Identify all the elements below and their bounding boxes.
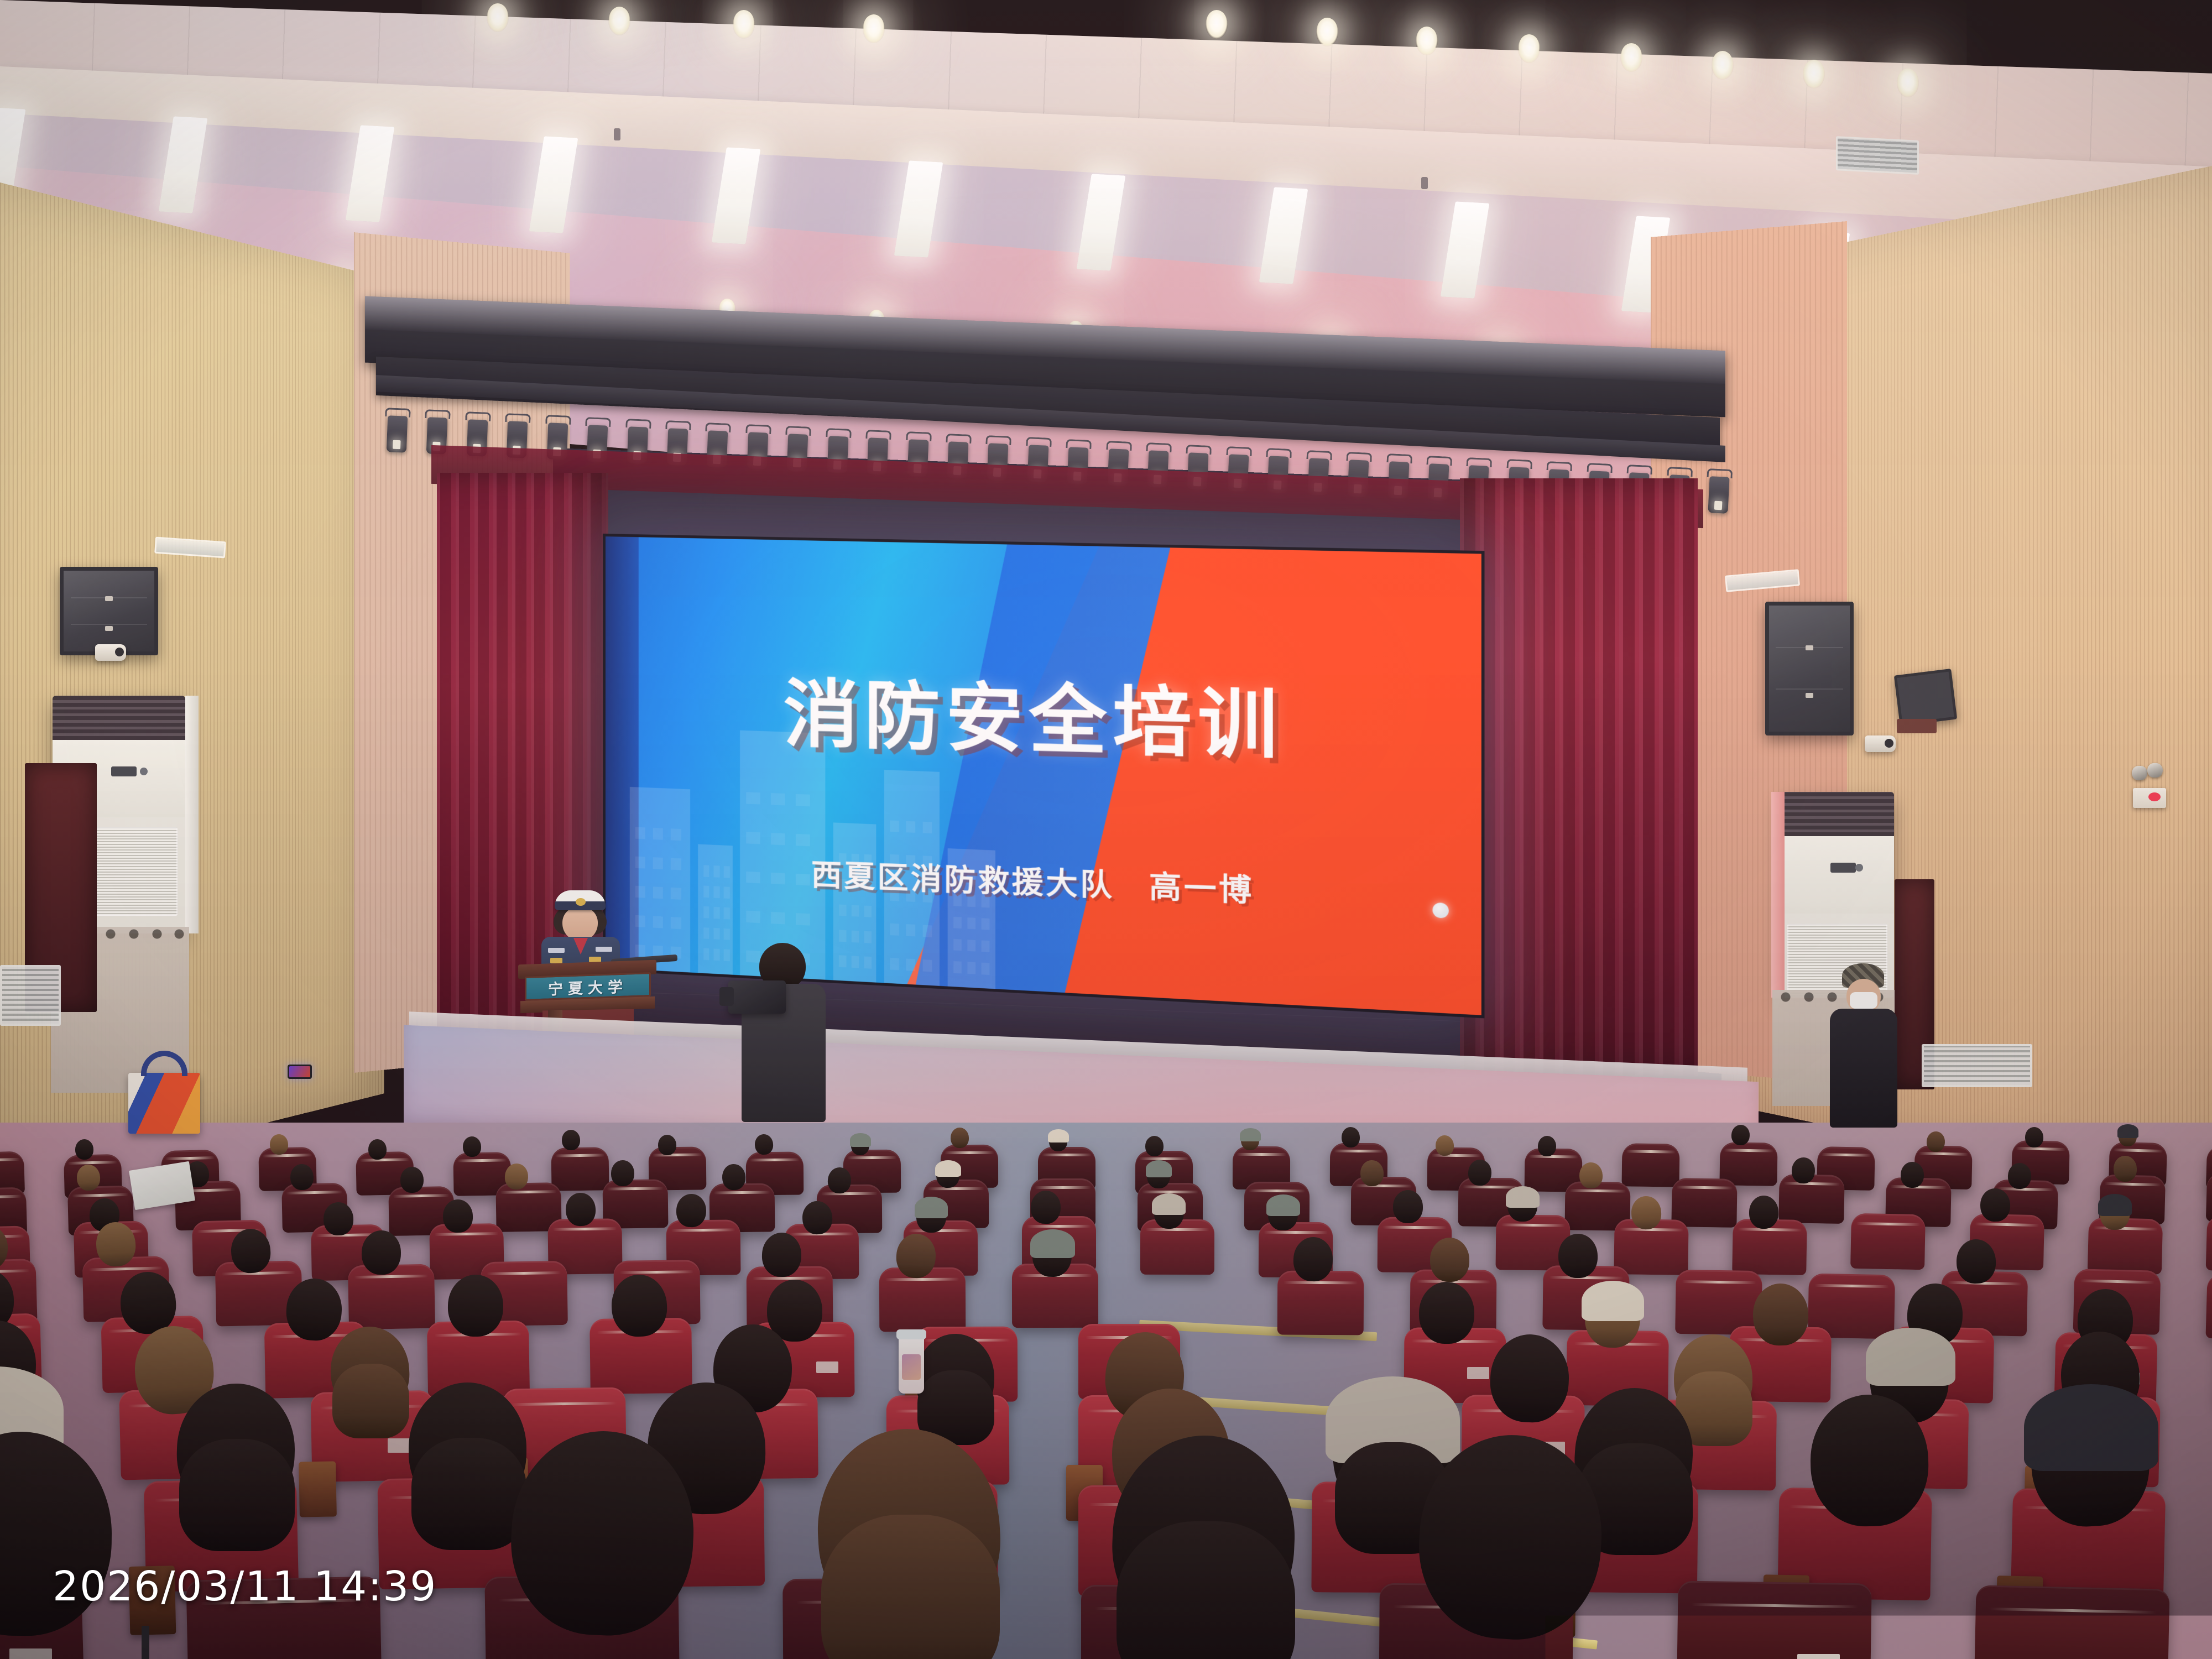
skyline-window bbox=[671, 888, 681, 900]
skyline-window bbox=[746, 832, 760, 844]
auditorium-seat[interactable] bbox=[1850, 1213, 1926, 1270]
skyline-window bbox=[982, 918, 989, 930]
security-camera bbox=[1865, 735, 1896, 752]
skyline-window bbox=[635, 827, 645, 839]
audience-member-cap bbox=[850, 1133, 871, 1147]
skyline-window bbox=[724, 949, 729, 961]
skyline-window bbox=[864, 931, 872, 943]
wall-notice-sign bbox=[2133, 788, 2166, 808]
skyline-window bbox=[724, 907, 729, 919]
left-floor-vent bbox=[0, 965, 61, 1026]
speaker-mount-bracket bbox=[1897, 719, 1937, 733]
audience-member-cap bbox=[2098, 1194, 2132, 1216]
lamp-yoke bbox=[1026, 437, 1052, 447]
skyline-window bbox=[852, 956, 859, 968]
skyline-window bbox=[864, 957, 872, 969]
lamp-yoke bbox=[1627, 465, 1653, 474]
sprinkler-head-icon bbox=[1421, 177, 1428, 189]
lamp-yoke bbox=[865, 430, 891, 440]
audience-member-head bbox=[1980, 1188, 2011, 1222]
lamp-yoke bbox=[1707, 468, 1733, 478]
security-camera bbox=[95, 644, 126, 661]
lamp-yoke bbox=[665, 420, 691, 430]
lamp-yoke bbox=[625, 419, 651, 429]
skyline-window bbox=[703, 906, 709, 918]
seat-leg bbox=[142, 1626, 149, 1659]
skyline-window bbox=[653, 857, 663, 869]
audience-member-head bbox=[1901, 1162, 1924, 1188]
auditorium-seat[interactable] bbox=[1974, 1585, 2170, 1659]
lamp-yoke bbox=[1587, 463, 1613, 473]
skyline-window bbox=[796, 834, 810, 846]
skyline-window bbox=[671, 858, 681, 870]
ceiling-air-vent bbox=[1836, 136, 1919, 175]
skyline-window bbox=[771, 912, 785, 924]
skyline-window bbox=[906, 959, 916, 971]
lamp-yoke bbox=[1066, 439, 1092, 449]
skyline-window bbox=[714, 948, 719, 960]
skyline-window bbox=[635, 945, 645, 957]
audience-member-head bbox=[75, 1139, 93, 1160]
skyline-window bbox=[906, 821, 916, 833]
audience-member-head bbox=[1393, 1190, 1423, 1223]
lamp-yoke bbox=[425, 409, 451, 419]
skyline-window bbox=[906, 924, 916, 936]
audience-member-head bbox=[1558, 1234, 1598, 1278]
audience-member-head bbox=[400, 1167, 424, 1193]
audience-member-cap bbox=[1146, 1160, 1172, 1177]
ceiling-downlight bbox=[1416, 27, 1438, 55]
attendee-coat bbox=[1830, 1009, 1897, 1128]
skyline-window bbox=[714, 928, 719, 940]
skyline-window bbox=[890, 924, 899, 936]
tote-bag bbox=[128, 1073, 200, 1134]
skyline-window bbox=[839, 904, 846, 916]
lamp-yoke bbox=[1146, 442, 1172, 452]
lamp-yoke bbox=[706, 422, 732, 432]
skyline-window bbox=[953, 916, 961, 928]
podium-plate-text: 宁夏大学 bbox=[548, 974, 628, 999]
skyline-window bbox=[839, 930, 846, 942]
audience-member-cap bbox=[1048, 1129, 1069, 1143]
audience-member-head bbox=[269, 1134, 288, 1155]
lamp-yoke bbox=[585, 417, 611, 427]
skyline-window bbox=[796, 874, 810, 886]
skyline-window bbox=[839, 955, 846, 967]
audience-member-cap bbox=[1152, 1193, 1186, 1215]
auditorium-seat[interactable] bbox=[1672, 1178, 1738, 1228]
skyline-window bbox=[922, 822, 932, 834]
audience-member-head bbox=[462, 1136, 481, 1157]
lamp-yoke bbox=[1306, 450, 1332, 460]
skyline-window bbox=[771, 873, 785, 885]
lamp-yoke bbox=[1467, 457, 1493, 467]
right-ac-left-edge bbox=[1771, 792, 1785, 998]
audience-member-cap bbox=[1266, 1194, 1300, 1217]
audience-member-cap bbox=[2024, 1384, 2158, 1471]
lamp-yoke bbox=[745, 424, 771, 434]
lamp-yoke bbox=[986, 435, 1012, 445]
skyline-window bbox=[890, 958, 899, 970]
skyline-window bbox=[653, 886, 663, 899]
skyline-window bbox=[653, 828, 663, 840]
audience-member-head bbox=[676, 1193, 707, 1228]
audience-member-head bbox=[611, 1160, 634, 1186]
audience-member-long-hair bbox=[411, 1438, 526, 1550]
skyline-window bbox=[922, 959, 932, 972]
emergency-exit-lamp bbox=[2132, 766, 2165, 785]
skyline-window bbox=[724, 928, 729, 940]
right-floor-vent bbox=[1922, 1044, 2032, 1087]
seat-number-tag bbox=[9, 1648, 52, 1659]
audience-member-head bbox=[1360, 1160, 1384, 1187]
auditorium-seat[interactable] bbox=[1675, 1270, 1762, 1335]
auditorium-seat[interactable] bbox=[1622, 1143, 1680, 1187]
skyline-window bbox=[967, 962, 975, 974]
skyline-window bbox=[746, 911, 760, 923]
stage-spotlight bbox=[387, 415, 408, 452]
auditorium-seat[interactable] bbox=[1676, 1580, 1871, 1659]
skyline-window bbox=[635, 886, 645, 898]
videographer bbox=[733, 943, 832, 1131]
lamp-yoke bbox=[505, 413, 531, 423]
lamp-yoke bbox=[946, 434, 972, 444]
skyline-window bbox=[953, 961, 961, 973]
audience-member-cap bbox=[1030, 1229, 1075, 1259]
skyline-window bbox=[671, 828, 681, 841]
lamp-yoke bbox=[1226, 446, 1252, 456]
skyline-window bbox=[703, 927, 709, 939]
left-wall-speaker bbox=[60, 567, 158, 655]
audience-member-long-hair bbox=[821, 1515, 1000, 1659]
skyline-window bbox=[724, 886, 729, 898]
lamp-yoke bbox=[1547, 461, 1573, 471]
audience-member-head bbox=[1030, 1190, 1061, 1224]
lamp-yoke bbox=[906, 431, 932, 441]
audience-member-head bbox=[2008, 1162, 2032, 1189]
seat-number-tag bbox=[816, 1361, 838, 1374]
audience-member-head bbox=[76, 1164, 100, 1191]
skyline-window bbox=[890, 820, 899, 832]
skyline-window bbox=[714, 865, 719, 877]
presenter-shoulder-tag bbox=[596, 947, 612, 952]
skyline-window bbox=[852, 905, 859, 917]
skyline-window bbox=[982, 940, 989, 952]
skyline-window bbox=[746, 792, 760, 805]
audience-member-cap bbox=[2117, 1124, 2138, 1138]
audience-member-head bbox=[362, 1230, 402, 1275]
ceiling-downlight bbox=[733, 10, 755, 39]
lamp-yoke bbox=[786, 426, 812, 436]
skyline-window bbox=[967, 917, 975, 930]
audience-member-head bbox=[323, 1202, 353, 1236]
ceiling-downlight bbox=[1316, 18, 1338, 46]
ceiling-downlight bbox=[1518, 34, 1540, 63]
skyline-window bbox=[724, 866, 729, 878]
lamp-yoke bbox=[465, 411, 491, 421]
lamp-yoke bbox=[385, 408, 411, 418]
ceiling-downlight bbox=[863, 14, 885, 43]
lamp-yoke bbox=[1186, 445, 1212, 455]
lamp-yoke bbox=[1426, 456, 1452, 466]
skyline-window bbox=[922, 925, 932, 937]
auditorium-seat[interactable] bbox=[1140, 1219, 1214, 1275]
lamp-yoke bbox=[826, 428, 852, 438]
photo-timestamp: 2026/03/11 14:39 bbox=[53, 1563, 437, 1610]
right-wall-speaker bbox=[1765, 602, 1854, 735]
auditorium-photo: 消防安全培训 西夏区消防救援大队 高一博 宁夏大学 bbox=[0, 0, 2212, 1659]
presenter-face bbox=[562, 907, 598, 941]
audience-member-head bbox=[448, 1274, 504, 1337]
audience-member-head bbox=[1419, 1282, 1474, 1344]
skyline-window bbox=[714, 907, 719, 919]
standing-attendee-right bbox=[1828, 963, 1900, 1129]
ceiling-downlight bbox=[1712, 51, 1734, 80]
right-mounted-speaker bbox=[1894, 669, 1957, 726]
presenter-name-tag bbox=[548, 948, 565, 953]
seat-armrest bbox=[299, 1461, 336, 1517]
lamp-yoke bbox=[1106, 441, 1132, 451]
audience-member-cap bbox=[1506, 1186, 1540, 1208]
lamp-yoke bbox=[1347, 452, 1373, 462]
audience-member-long-hair bbox=[332, 1364, 409, 1438]
audience-member-cap bbox=[915, 1197, 948, 1219]
skyline-window bbox=[796, 794, 810, 806]
audience-member-head bbox=[1468, 1159, 1491, 1186]
ceiling-downlight bbox=[608, 7, 630, 35]
skyline-window bbox=[796, 913, 810, 925]
handheld-video-camera bbox=[728, 980, 786, 1014]
presenter-peaked-cap bbox=[555, 890, 606, 910]
auditorium-seat[interactable] bbox=[551, 1147, 609, 1191]
lamp-yoke bbox=[1266, 448, 1292, 458]
skyline-window bbox=[953, 939, 961, 951]
skyline-window bbox=[635, 915, 645, 927]
drink-cup bbox=[899, 1335, 924, 1394]
skyline-window bbox=[671, 917, 681, 929]
audience-member-head bbox=[1579, 1162, 1603, 1188]
skyline-window bbox=[653, 916, 663, 928]
seat-number-tag bbox=[1797, 1654, 1840, 1659]
skyline-window bbox=[852, 930, 859, 942]
screen-sensor-dot bbox=[1432, 902, 1448, 918]
auditorium-seat[interactable] bbox=[1778, 1174, 1845, 1224]
stage-spotlight bbox=[1708, 476, 1729, 514]
skyline-window bbox=[746, 872, 760, 884]
audience-member-cap bbox=[935, 1160, 962, 1177]
audience-member-head bbox=[1749, 1196, 1779, 1229]
face-mask bbox=[1850, 992, 1877, 1009]
seat-number-tag bbox=[1467, 1367, 1489, 1379]
audience-member-head bbox=[2113, 1155, 2137, 1182]
skyline-window bbox=[714, 886, 719, 898]
skyline-window bbox=[703, 886, 709, 898]
audience-member-head bbox=[1145, 1136, 1164, 1156]
skyline-window bbox=[771, 833, 785, 845]
auditorium-seat[interactable] bbox=[348, 1264, 435, 1330]
audience-member-head bbox=[443, 1199, 473, 1233]
phone-screen bbox=[288, 1065, 312, 1079]
stage-curtain-right bbox=[1460, 478, 1698, 1076]
audience-member-long-hair bbox=[1117, 1521, 1295, 1659]
audience-member-cap bbox=[1866, 1328, 1955, 1386]
sprinkler-head-icon bbox=[614, 128, 620, 140]
ceiling-downlight bbox=[1206, 10, 1228, 39]
ceiling-downlight bbox=[487, 3, 509, 32]
ceiling-downlight bbox=[1803, 60, 1825, 88]
skyline-window bbox=[703, 948, 709, 959]
audience-member-head bbox=[1791, 1157, 1815, 1185]
audience-member-long-hair bbox=[179, 1439, 294, 1551]
screen-title: 消防安全培训 bbox=[784, 654, 1284, 775]
skyline-window bbox=[982, 963, 989, 975]
audience-member-head bbox=[1430, 1238, 1470, 1282]
lamp-yoke bbox=[545, 415, 571, 425]
audience-member-cap bbox=[1240, 1128, 1261, 1142]
ceiling-downlight bbox=[1897, 69, 1919, 97]
audience-member-cap bbox=[1582, 1281, 1645, 1322]
skyline-window bbox=[967, 940, 975, 952]
skyline-window bbox=[771, 793, 785, 805]
left-air-conditioner-side bbox=[185, 696, 199, 933]
lamp-yoke bbox=[1506, 459, 1532, 469]
skyline-window bbox=[635, 857, 645, 869]
lamp-yoke bbox=[1386, 453, 1412, 463]
skyline-window bbox=[703, 865, 709, 877]
skyline-window bbox=[864, 905, 872, 917]
ceiling-downlight bbox=[1620, 43, 1642, 72]
lamp-yoke bbox=[1667, 467, 1693, 477]
